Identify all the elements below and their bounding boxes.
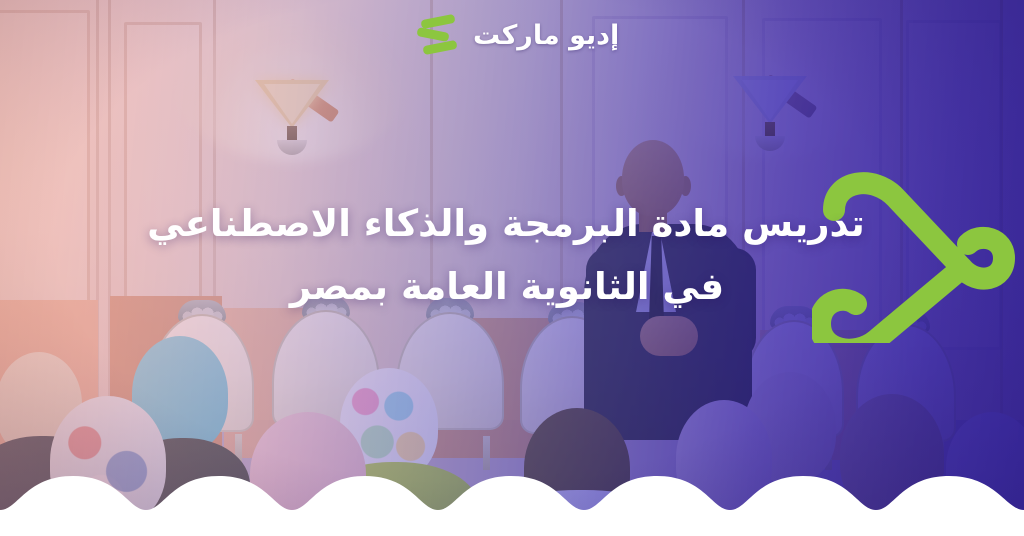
brand-logo-text: إديو ماركت (473, 20, 619, 51)
headline-line-1: تدريس مادة البرمجة والذكاء الاصطناعي (0, 192, 1024, 255)
white-wave-divider-icon (0, 466, 1024, 536)
headline-line-2: في الثانوية العامة بمصر (0, 255, 1024, 318)
brand-logo[interactable]: إديو ماركت (415, 14, 619, 56)
headline: تدريس مادة البرمجة والذكاء الاصطناعي في … (0, 192, 1024, 318)
promo-banner: إديو ماركت تدريس مادة البرمجة والذكاء ال… (0, 0, 1024, 536)
three-green-bars-icon (415, 14, 461, 56)
